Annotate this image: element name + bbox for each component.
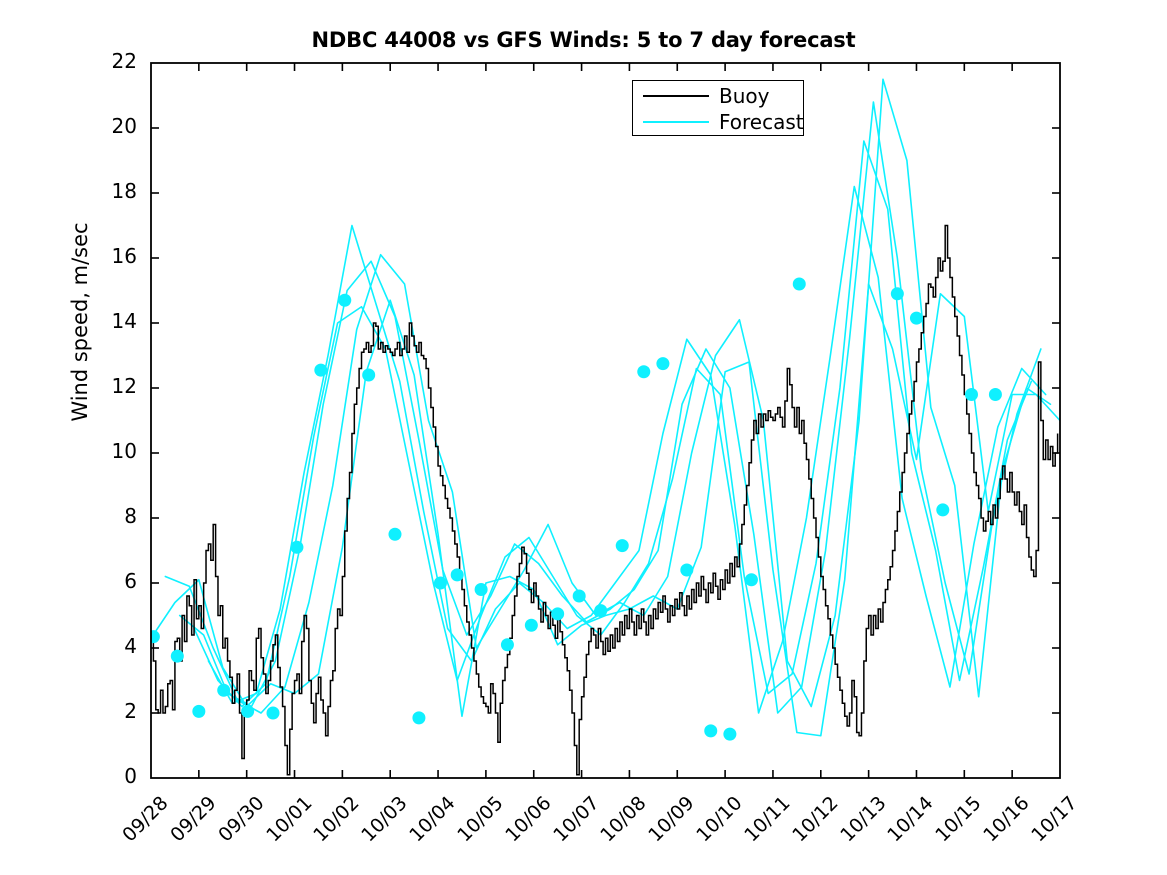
- scatter-marker-group: [147, 278, 1002, 741]
- y-tick-label: 2: [77, 699, 137, 723]
- scatter-marker: [704, 724, 717, 737]
- scatter-marker: [745, 573, 758, 586]
- y-tick-label: 4: [77, 634, 137, 658]
- scatter-marker: [388, 528, 401, 541]
- scatter-marker: [241, 705, 254, 718]
- plot-frame: [151, 63, 1060, 778]
- y-tick-label: 18: [77, 179, 137, 203]
- legend-label-forecast: Forecast: [719, 109, 804, 135]
- y-tick-label: 0: [77, 764, 137, 788]
- scatter-marker: [594, 604, 607, 617]
- scatter-marker: [989, 388, 1002, 401]
- scatter-marker: [475, 583, 488, 596]
- scatter-marker: [910, 312, 923, 325]
- y-tick-label: 16: [77, 244, 137, 268]
- legend-label-buoy: Buoy: [719, 83, 769, 109]
- scatter-marker: [501, 638, 514, 651]
- scatter-marker: [171, 650, 184, 663]
- scatter-marker: [314, 364, 327, 377]
- scatter-marker: [793, 278, 806, 291]
- scatter-marker: [525, 619, 538, 632]
- legend-entry-buoy[interactable]: Buoy: [633, 83, 805, 109]
- legend-swatch-forecast: [643, 121, 709, 123]
- y-tick-label: 20: [77, 114, 137, 138]
- legend-swatch-buoy: [643, 95, 709, 97]
- scatter-marker: [936, 503, 949, 516]
- y-tick-label: 22: [77, 49, 137, 73]
- scatter-marker: [290, 541, 303, 554]
- scatter-marker: [656, 357, 669, 370]
- y-tick-label: 12: [77, 374, 137, 398]
- y-tick-label: 6: [77, 569, 137, 593]
- y-tick-label: 8: [77, 504, 137, 528]
- legend-entry-forecast[interactable]: Forecast: [633, 109, 805, 135]
- scatter-marker: [412, 711, 425, 724]
- scatter-marker: [637, 365, 650, 378]
- scatter-marker: [891, 287, 904, 300]
- scatter-marker: [551, 607, 564, 620]
- scatter-marker: [723, 728, 736, 741]
- scatter-marker: [362, 369, 375, 382]
- scatter-marker: [965, 388, 978, 401]
- forecast-line: [208, 187, 1045, 714]
- axis-ticks: [151, 63, 1060, 778]
- forecast-line: [151, 284, 1060, 736]
- figure-canvas: NDBC 44008 vs GFS Winds: 5 to 7 day fore…: [0, 0, 1167, 875]
- scatter-marker: [267, 707, 280, 720]
- scatter-marker: [217, 684, 230, 697]
- scatter-marker: [680, 564, 693, 577]
- scatter-marker: [451, 568, 464, 581]
- scatter-marker: [338, 294, 351, 307]
- chart-legend[interactable]: Buoy Forecast: [632, 80, 804, 136]
- y-tick-label: 14: [77, 309, 137, 333]
- data-series-group: [151, 79, 1060, 775]
- scatter-marker: [434, 577, 447, 590]
- forecast-line: [165, 79, 1050, 713]
- scatter-marker: [147, 630, 160, 643]
- y-tick-label: 10: [77, 439, 137, 463]
- scatter-marker: [192, 705, 205, 718]
- scatter-marker: [616, 539, 629, 552]
- scatter-marker: [573, 590, 586, 603]
- plot-svg: [0, 0, 1167, 875]
